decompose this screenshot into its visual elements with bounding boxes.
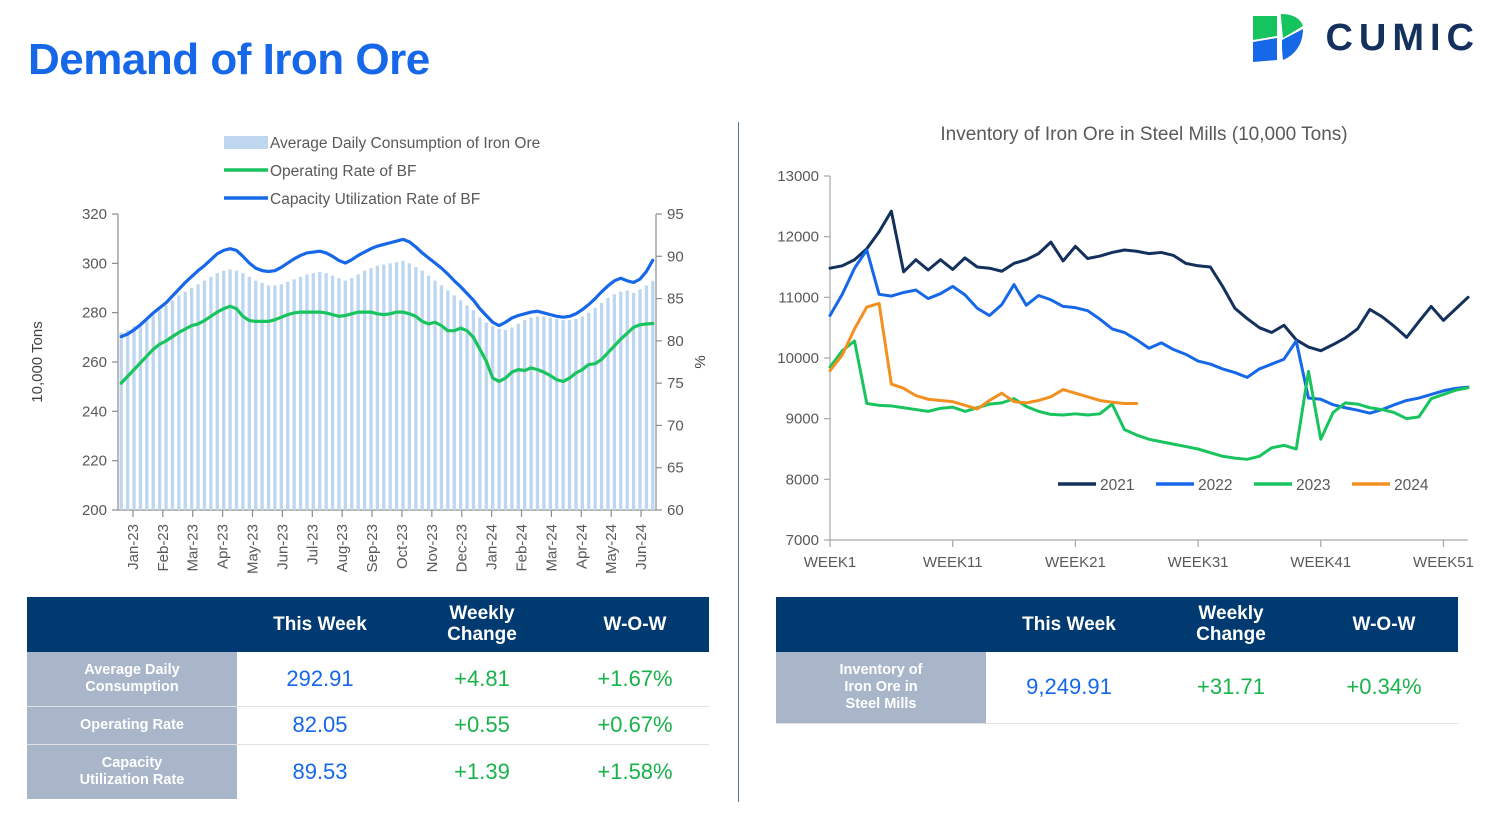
demand-of-iron-ore-chart: Average Daily Consumption of Iron OreOpe…	[0, 118, 738, 588]
demand-chart: Average Daily Consumption of Iron OreOpe…	[0, 118, 738, 588]
table-row: Average Daily Consumption 292.91 +4.81 +…	[27, 652, 709, 706]
cell-wow: +0.67%	[561, 707, 709, 744]
bar	[613, 294, 616, 510]
bar	[446, 290, 449, 510]
bar	[587, 313, 590, 510]
x-tick-label: Oct-23	[394, 524, 411, 569]
page-title: Demand of Iron Ore	[28, 38, 430, 82]
bar	[561, 320, 564, 510]
series-line-2021	[830, 211, 1468, 351]
y-tick-label: 260	[82, 354, 107, 371]
bar	[606, 298, 609, 510]
bar	[510, 327, 513, 510]
bar	[126, 330, 129, 510]
bar	[132, 326, 135, 510]
x-tick-label: Aug-23	[334, 524, 351, 572]
cell-this-week: 292.91	[237, 652, 403, 706]
bar	[177, 295, 180, 510]
row-header-cell: Inventory of Iron Ore in Steel Mills	[776, 652, 986, 723]
bar	[305, 274, 308, 510]
y2-tick-label: 70	[667, 417, 684, 434]
y2-axis-title: %	[692, 355, 709, 368]
panel-divider	[738, 122, 739, 802]
x-axis: Jan-23Feb-23Mar-23Apr-23May-23Jun-23Jul-…	[125, 510, 650, 574]
row-label-average-daily-consumption: Average Daily Consumption	[27, 652, 237, 706]
x-tick-label: Dec-23	[454, 524, 471, 572]
legend-label: Capacity Utilization Rate of BF	[270, 191, 480, 208]
x-tick-label: Feb-23	[155, 524, 172, 572]
y2-tick-label: 65	[667, 460, 684, 477]
bar	[465, 305, 468, 510]
bar	[318, 272, 321, 510]
bar	[158, 310, 161, 510]
y-tick-label: 320	[82, 206, 107, 223]
bar	[139, 323, 142, 510]
col-weekly-change: Weekly Change	[1152, 597, 1310, 652]
cumic-mark-icon	[1251, 12, 1313, 64]
bar	[171, 300, 174, 510]
inventory-chart: Inventory of Iron Ore in Steel Mills (10…	[740, 118, 1502, 588]
bar	[196, 284, 199, 510]
y-tick-label: 240	[82, 403, 107, 420]
cell-weekly-change: +4.81	[403, 652, 561, 706]
col-this-week: This Week	[237, 597, 403, 652]
x-tick-label: WEEK11	[923, 554, 983, 571]
y2-tick-label: 60	[667, 502, 684, 519]
col-weekly-change-line2: Change	[1196, 624, 1266, 645]
bar	[517, 324, 520, 510]
y-tick-label: 220	[82, 453, 107, 470]
row-header-cell: Average Daily Consumption	[27, 652, 237, 706]
bar	[190, 288, 193, 510]
x-axis: WEEK1WEEK11WEEK21WEEK31WEEK41WEEK51	[804, 540, 1474, 571]
y-tick-label: 7000	[786, 532, 819, 549]
bar	[555, 319, 558, 510]
row-label-capacity-utilization-rate: Capacity Utilization Rate	[27, 745, 237, 799]
x-tick-label: Mar-24	[543, 524, 560, 572]
operating-rate-line	[121, 306, 653, 383]
col-weekly-change-line1: Weekly	[449, 603, 514, 624]
bar	[184, 292, 187, 510]
col-weekly-change-line1: Weekly	[1198, 603, 1263, 624]
y2-tick-label: 80	[667, 333, 684, 350]
bar	[357, 274, 360, 510]
bar	[497, 329, 500, 510]
bar	[203, 281, 206, 510]
y-tick-label: 9000	[786, 411, 819, 428]
col-this-week: This Week	[986, 597, 1152, 652]
row-label-inventory-of-iron-ore-in-steel-mills: Inventory of Iron Ore in Steel Mills	[776, 652, 986, 723]
bar	[504, 330, 507, 510]
legend-label-2021: 2021	[1100, 477, 1134, 494]
x-tick-label: Jun-23	[274, 524, 291, 570]
bar	[209, 277, 212, 510]
cell-this-week: 82.05	[237, 707, 403, 744]
demand-chart-legend: Average Daily Consumption of Iron OreOpe…	[224, 135, 540, 208]
y2-tick-label: 95	[667, 206, 684, 223]
y-tick-label: 300	[82, 255, 107, 272]
bar	[312, 273, 315, 510]
right-y-axis: 6065707580859095	[656, 206, 684, 519]
y-tick-label: 11000	[778, 289, 819, 306]
x-tick-label: Jun-24	[633, 524, 650, 570]
inventory-chart-title: Inventory of Iron Ore in Steel Mills (10…	[940, 124, 1347, 145]
bar	[433, 281, 436, 510]
col-wow: W-O-W	[561, 597, 709, 652]
bar	[241, 273, 244, 510]
bar	[568, 320, 571, 510]
row-label-operating-rate: Operating Rate	[27, 707, 237, 744]
series-line-2023	[830, 341, 1468, 459]
row-header-cell: Operating Rate	[27, 707, 237, 744]
bar	[120, 332, 123, 510]
left-panel: Average Daily Consumption of Iron OreOpe…	[0, 118, 738, 588]
table-corner-cell	[776, 597, 986, 652]
bar	[369, 268, 372, 510]
bar	[331, 276, 334, 510]
cell-weekly-change: +1.39	[403, 745, 561, 799]
bar	[459, 300, 462, 510]
bar	[645, 286, 648, 510]
brand-name: CUMIC	[1325, 17, 1480, 60]
cell-wow: +1.58%	[561, 745, 709, 799]
x-tick-label: May-23	[245, 524, 262, 574]
legend-label-2024: 2024	[1394, 477, 1429, 494]
bar	[638, 289, 641, 510]
cell-wow: +1.67%	[561, 652, 709, 706]
x-tick-label: WEEK21	[1045, 554, 1106, 571]
bar	[529, 318, 532, 510]
bar	[382, 265, 385, 510]
bar	[408, 263, 411, 510]
bar	[389, 263, 392, 510]
bar	[626, 290, 629, 510]
table-header-row: This Week Weekly Change W-O-W	[27, 597, 709, 652]
bar	[260, 283, 263, 510]
bar	[440, 286, 443, 510]
bar	[254, 281, 257, 510]
bar	[267, 286, 270, 510]
series-line-2024	[830, 303, 1137, 409]
table-row: Operating Rate 82.05 +0.55 +0.67%	[27, 707, 709, 744]
cell-wow: +0.34%	[1310, 652, 1458, 723]
table-row: Capacity Utilization Rate 89.53 +1.39 +1…	[27, 745, 709, 799]
bar	[581, 316, 584, 510]
bar	[363, 271, 366, 510]
legend-swatch-average-daily-consumption	[224, 136, 268, 149]
bar	[376, 266, 379, 510]
bar	[491, 326, 494, 510]
x-tick-label: WEEK51	[1413, 554, 1474, 571]
y-tick-label: 12000	[777, 229, 819, 246]
inventory-chart-legend: 2021202220232024	[1058, 477, 1429, 494]
bar	[421, 271, 424, 510]
bar	[216, 273, 219, 510]
y2-tick-label: 85	[667, 291, 684, 308]
cell-weekly-change: +0.55	[403, 707, 561, 744]
x-tick-label: Nov-23	[424, 524, 441, 572]
table-row-separator	[776, 723, 1458, 724]
bar	[523, 320, 526, 510]
x-tick-label: Feb-24	[514, 524, 531, 572]
bar	[453, 295, 456, 510]
bar	[600, 303, 603, 510]
left-y-axis: 200220240260280300320	[82, 206, 118, 519]
col-weekly-change-line2: Change	[447, 624, 517, 645]
x-tick-label: Apr-24	[573, 524, 590, 569]
legend-label-2023: 2023	[1296, 477, 1330, 494]
y-tick-label: 200	[82, 502, 107, 519]
col-wow: W-O-W	[1310, 597, 1458, 652]
table-header-row: This Week Weekly Change W-O-W	[776, 597, 1458, 652]
x-tick-label: Jan-24	[484, 524, 501, 570]
y2-tick-label: 90	[667, 248, 684, 265]
bar	[427, 276, 430, 510]
x-tick-label: WEEK41	[1290, 554, 1351, 571]
y2-tick-label: 75	[667, 375, 684, 392]
inventory-of-iron-ore-chart: Inventory of Iron Ore in Steel Mills (10…	[740, 118, 1498, 588]
bar	[414, 267, 417, 510]
bar	[401, 261, 404, 510]
row-header-cell: Capacity Utilization Rate	[27, 745, 237, 799]
y-tick-label: 280	[82, 305, 107, 322]
bar	[536, 316, 539, 510]
table-row: Inventory of Iron Ore in Steel Mills 9,2…	[776, 652, 1458, 723]
bar	[651, 281, 654, 510]
legend-label: Operating Rate of BF	[270, 163, 416, 180]
x-tick-label: Jul-23	[304, 524, 321, 565]
bar	[337, 278, 340, 510]
cell-this-week: 89.53	[237, 745, 403, 799]
y-axis: 70008000900010000110001200013000	[777, 168, 830, 549]
brand-logo: CUMIC	[1251, 12, 1480, 64]
bar	[542, 316, 545, 510]
x-tick-label: WEEK1	[804, 554, 857, 571]
legend-label-2022: 2022	[1198, 477, 1232, 494]
bar	[619, 292, 622, 510]
bar	[574, 319, 577, 510]
bar	[593, 308, 596, 510]
bar	[549, 318, 552, 510]
y-tick-label: 8000	[786, 471, 819, 488]
y-tick-label: 10000	[777, 350, 819, 367]
bar	[395, 262, 398, 510]
bar	[152, 315, 155, 510]
x-tick-label: Sep-23	[364, 524, 381, 572]
x-tick-label: Jan-23	[125, 524, 142, 570]
bar	[485, 323, 488, 510]
legend-label: Average Daily Consumption of Iron Ore	[270, 135, 540, 152]
col-weekly-change: Weekly Change	[403, 597, 561, 652]
right-panel: Inventory of Iron Ore in Steel Mills (10…	[740, 118, 1502, 588]
y-axis-title: 10,000 Tons	[29, 321, 46, 402]
x-tick-label: Apr-23	[215, 524, 232, 569]
table-corner-cell	[27, 597, 237, 652]
bar	[164, 305, 167, 510]
x-tick-label: Mar-23	[185, 524, 202, 572]
demand-summary-table: This Week Weekly Change W-O-W Average Da…	[27, 597, 709, 799]
x-tick-label: May-24	[603, 524, 620, 574]
bar	[145, 319, 148, 510]
bar	[324, 273, 327, 510]
cell-this-week: 9,249.91	[986, 652, 1152, 723]
y-tick-label: 13000	[777, 168, 819, 185]
inventory-summary-table: This Week Weekly Change W-O-W Inventory …	[776, 597, 1458, 724]
cell-weekly-change: +31.71	[1152, 652, 1310, 723]
x-tick-label: WEEK31	[1168, 554, 1229, 571]
bar	[248, 277, 251, 510]
average-daily-consumption-bars	[120, 261, 655, 510]
series-line-2022	[830, 250, 1468, 413]
